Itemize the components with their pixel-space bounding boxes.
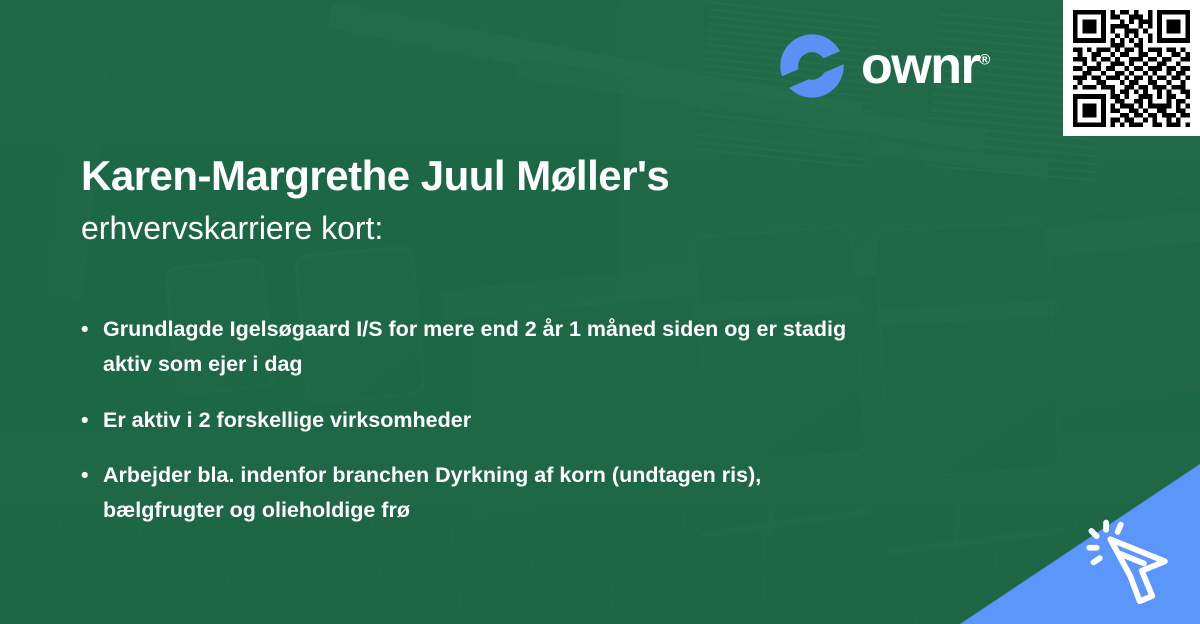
ownr-wordmark-text: ownr (861, 37, 979, 95)
page-title: Karen-Margrethe Juul Møller's (81, 152, 841, 199)
ownr-career-card: ownr® Karen-Margrethe Juul Møller's erhv… (0, 0, 1200, 624)
ownr-wordmark: ownr® (861, 40, 990, 92)
career-fact-item: Er aktiv i 2 forskellige virksomheder (81, 403, 881, 438)
career-fact-item: Arbejder bla. indenfor branchen Dyrkning… (81, 458, 881, 528)
headline-block: Karen-Margrethe Juul Møller's erhvervska… (81, 152, 841, 247)
career-facts-list: Grundlagde Igelsøgaard I/S for mere end … (81, 312, 881, 549)
registered-mark: ® (979, 52, 990, 69)
ownr-logo[interactable]: ownr® (779, 33, 990, 99)
qr-code-container[interactable] (1063, 0, 1200, 136)
career-fact-item: Grundlagde Igelsøgaard I/S for mere end … (81, 312, 881, 382)
blue-corner-accent (960, 464, 1200, 624)
qr-code (1073, 10, 1190, 127)
ownr-circular-swirl-logo-icon (779, 33, 845, 99)
click-cursor-icon (1083, 512, 1188, 617)
page-subtitle: erhvervskarriere kort: (81, 210, 841, 247)
corner-triangle (960, 464, 1200, 624)
